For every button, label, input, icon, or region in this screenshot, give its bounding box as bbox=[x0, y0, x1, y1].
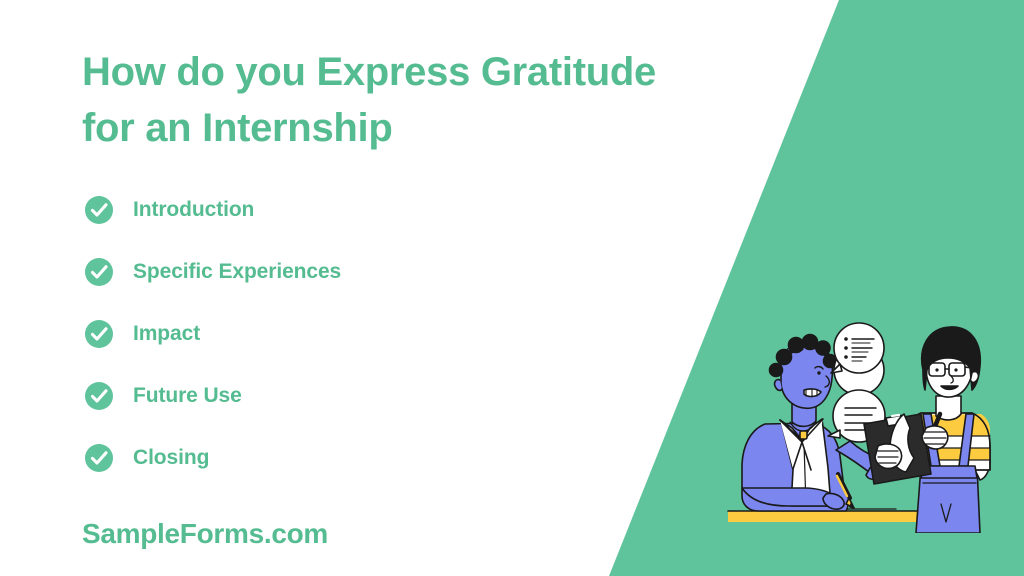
check-circle-icon bbox=[84, 381, 114, 411]
bulleted-list-bubble bbox=[831, 323, 884, 395]
checklist-item-future-use: Future Use bbox=[84, 376, 341, 416]
checklist-item-label: Impact bbox=[133, 322, 200, 346]
page-title-line-2: for an Internship bbox=[82, 100, 722, 156]
checklist-item-label: Future Use bbox=[133, 384, 242, 408]
page-title: How do you Express Gratitude for an Inte… bbox=[82, 44, 722, 156]
checklist-item-introduction: Introduction bbox=[84, 190, 341, 230]
brand-wordmark: SampleForms.com bbox=[82, 518, 328, 550]
checklist-item-specific-experiences: Specific Experiences bbox=[84, 252, 341, 292]
slide-canvas: How do you Express Gratitude for an Inte… bbox=[0, 0, 1024, 576]
checklist: Introduction Specific Experiences bbox=[84, 190, 341, 500]
check-circle-icon bbox=[84, 319, 114, 349]
page-title-line-1: How do you Express Gratitude bbox=[82, 44, 722, 100]
content-column: How do you Express Gratitude for an Inte… bbox=[0, 0, 640, 576]
checklist-item-impact: Impact bbox=[84, 314, 341, 354]
check-circle-icon bbox=[84, 443, 114, 473]
check-circle-icon bbox=[84, 195, 114, 225]
checklist-item-label: Closing bbox=[133, 446, 209, 470]
two-people-discussion-illustration bbox=[718, 318, 1018, 533]
checklist-item-label: Specific Experiences bbox=[133, 260, 341, 284]
checklist-item-label: Introduction bbox=[133, 198, 254, 222]
checklist-item-closing: Closing bbox=[84, 438, 341, 478]
standing-person bbox=[864, 327, 990, 533]
check-circle-icon bbox=[84, 257, 114, 287]
